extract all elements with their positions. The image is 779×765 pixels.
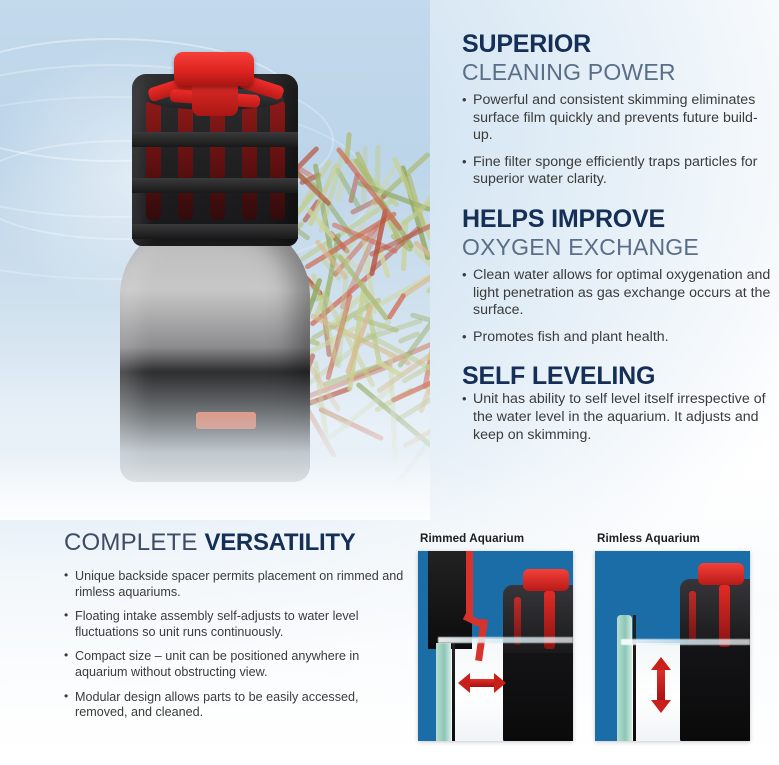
rotor-top-cap xyxy=(174,52,254,86)
list-item: Floating intake assembly self-adjusts to… xyxy=(64,609,409,640)
feature-bullet-list: Clean water allows for optimal oxygenati… xyxy=(462,267,772,346)
inset-rimmed-aquarium: Rimmed Aquarium xyxy=(418,532,577,758)
feature-title-bold: SELF LEVELING xyxy=(462,362,772,391)
list-item: Promotes fish and plant health. xyxy=(462,329,772,347)
feature-bullet-list: Unit has ability to self level itself ir… xyxy=(462,391,772,444)
water-surface-line xyxy=(438,637,573,643)
aquarium-glass-edge xyxy=(452,643,455,741)
cage-ring xyxy=(132,224,298,239)
feature-block-superior: SUPERIOR CLEANING POWER Powerful and con… xyxy=(462,30,772,189)
product-feature-page: SUPERIOR CLEANING POWER Powerful and con… xyxy=(0,0,779,765)
inset-title: Rimless Aquarium xyxy=(597,532,754,545)
list-item: Powerful and consistent skimming elimina… xyxy=(462,92,772,145)
skimmer-red-strip xyxy=(689,591,696,641)
versatility-title: COMPLETE VERSATILITY xyxy=(64,529,409,557)
list-item: Clean water allows for optimal oxygenati… xyxy=(462,267,772,320)
list-item: Compact size – unit can be positioned an… xyxy=(64,649,409,680)
skimmer-rotor-cap xyxy=(152,58,278,124)
cage-ring xyxy=(132,132,298,147)
feature-title-bold: HELPS IMPROVE xyxy=(462,205,772,234)
feature-block-oxygen: HELPS IMPROVE OXYGEN EXCHANGE Clean wate… xyxy=(462,205,772,346)
double-arrow-vertical-icon xyxy=(651,657,671,713)
list-item: Modular design allows parts to be easily… xyxy=(64,690,409,721)
feature-title-thin: CLEANING POWER xyxy=(462,59,772,85)
feature-copy-column: SUPERIOR CLEANING POWER Powerful and con… xyxy=(462,30,772,460)
inset-image-rimless xyxy=(595,551,750,741)
versatility-title-bold: VERSATILITY xyxy=(205,529,356,556)
spacer-hook-icon xyxy=(466,551,473,619)
list-item: Unit has ability to self level itself ir… xyxy=(462,391,772,444)
inset-panel-group: Rimmed Aquarium xyxy=(418,532,770,758)
aquarium-glass-edge xyxy=(633,615,636,741)
inset-title: Rimmed Aquarium xyxy=(420,532,577,545)
list-item: Fine filter sponge efficiently traps par… xyxy=(462,154,772,189)
water-surface-line xyxy=(621,639,750,645)
skimmer-red-cap xyxy=(698,563,744,585)
versatility-title-light: COMPLETE xyxy=(64,529,198,556)
inset-rimless-aquarium: Rimless Aquarium xyxy=(595,532,754,758)
list-item: Unique backside spacer permits placement… xyxy=(64,569,409,600)
skimmer-red-cap xyxy=(523,569,569,591)
feature-title-bold: SUPERIOR xyxy=(462,30,772,59)
product-photo xyxy=(0,0,430,520)
cage-ring xyxy=(132,178,298,193)
versatility-bullet-list: Unique backside spacer permits placement… xyxy=(64,569,409,721)
inset-image-rimmed xyxy=(418,551,573,741)
feature-bullet-list: Powerful and consistent skimming elimina… xyxy=(462,92,772,189)
feature-block-self-leveling: SELF LEVELING Unit has ability to self l… xyxy=(462,362,772,444)
aquarium-glass-pane xyxy=(617,615,632,741)
skimmer-red-strip xyxy=(719,585,730,647)
double-arrow-horizontal-icon xyxy=(458,673,506,693)
aquarium-glass-pane xyxy=(436,643,451,741)
versatility-section: COMPLETE VERSATILITY Unique backside spa… xyxy=(64,529,409,730)
feature-title-thin: OXYGEN EXCHANGE xyxy=(462,234,772,260)
